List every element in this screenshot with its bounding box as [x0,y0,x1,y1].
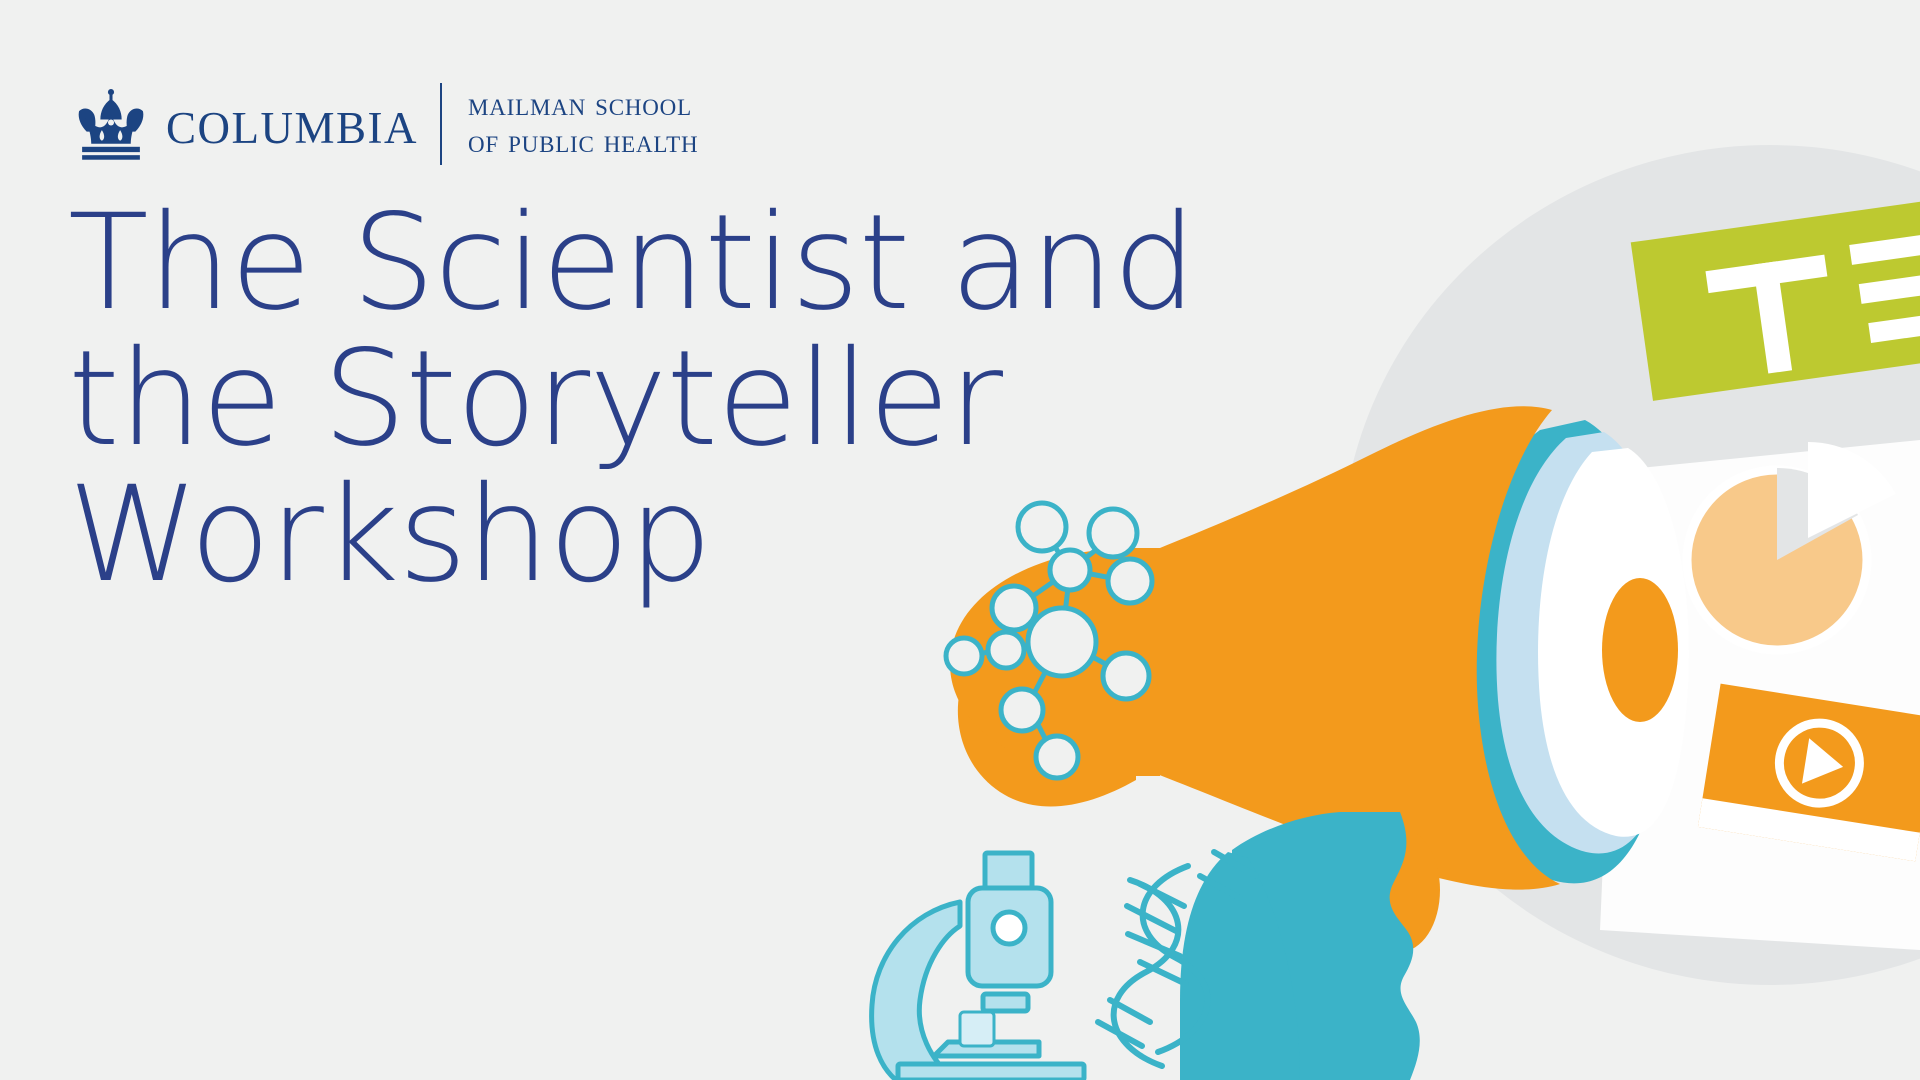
brand-divider [440,83,442,165]
handle-knuckle [1360,828,1440,952]
pie-chart-icon [1687,442,1896,650]
poster-canvas: Columbia Mailman School of Public Health… [0,0,1920,1080]
megaphone-handle [1180,812,1420,1080]
brand-unit-line-2: of Public Health [468,124,698,161]
dna-helix-icon [1098,852,1256,1066]
megaphone-bell [1447,420,1689,883]
microscope-icon [872,853,1084,1080]
white-backing-sheet [1600,440,1920,950]
halo-blob [1340,145,1920,985]
text-document-card-icon [1631,181,1920,401]
page-title: The Scientist and the Storyteller Worksh… [68,196,1196,604]
video-card-icon [1698,684,1920,862]
bell-mouth-highlight [1602,578,1678,722]
brand-unit-line-1: Mailman School [468,87,698,124]
brand-lockup: Columbia Mailman School of Public Health [72,78,698,170]
brand-wordmark: Columbia [166,90,418,158]
brand-unit-name: Mailman School of Public Health [468,87,698,161]
square-accent [960,1012,994,1046]
columbia-crown-icon [72,86,150,162]
